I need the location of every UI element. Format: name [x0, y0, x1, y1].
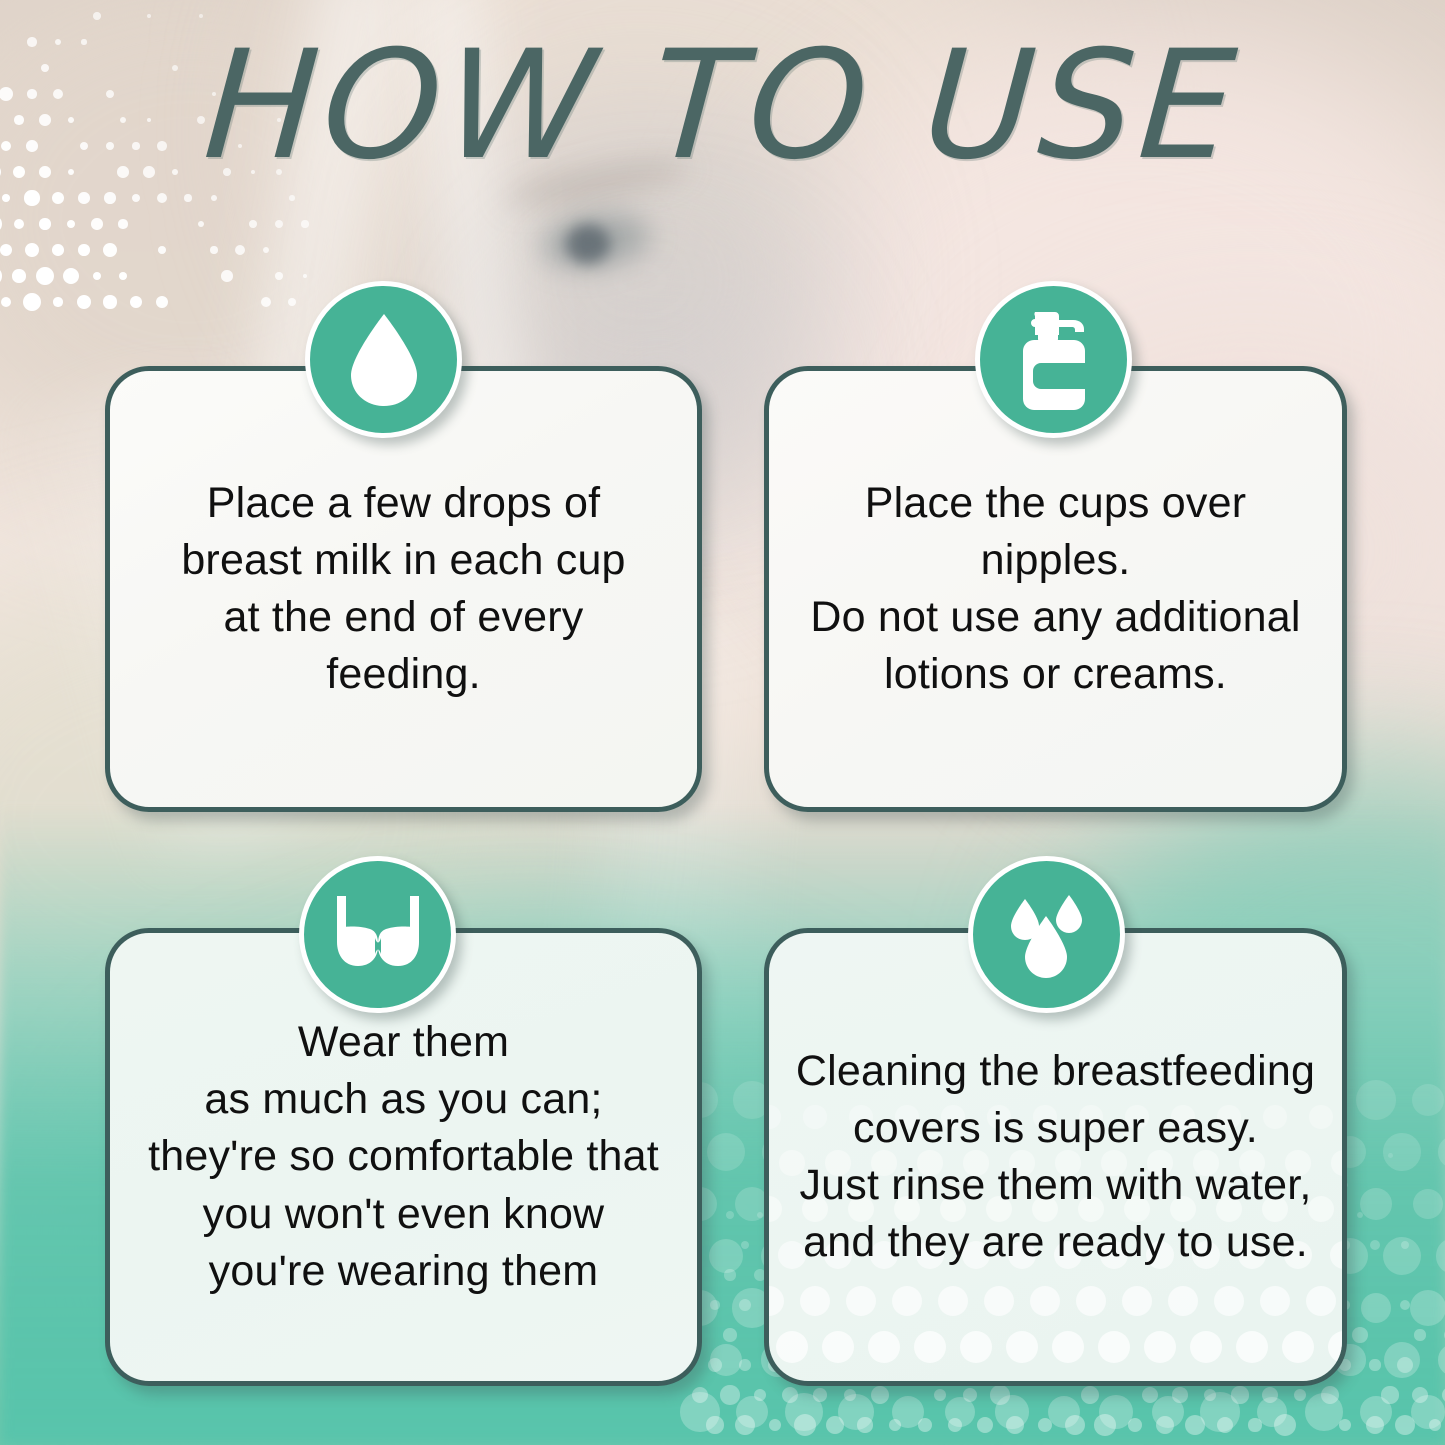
water-drop-icon	[345, 312, 423, 408]
step-1-icon-badge	[305, 281, 462, 438]
step-card-1-text: Place a few drops of breast milk in each…	[110, 475, 697, 704]
step-card-2-text: Place the cups over nipples. Do not use …	[769, 475, 1342, 704]
lotion-bottle-icon	[1011, 307, 1097, 413]
baby-eye-pupil-detail	[566, 224, 610, 264]
step-2-icon-badge	[975, 281, 1132, 438]
step-3-icon-badge	[299, 856, 456, 1013]
step-4-icon-badge	[968, 856, 1125, 1013]
bra-icon	[328, 896, 428, 974]
page-title: HOW TO USE	[0, 28, 1445, 186]
step-card-4-text: Cleaning the breastfeeding covers is sup…	[769, 1043, 1342, 1272]
step-card-3-text: Wear them as much as you can; they're so…	[110, 1014, 697, 1300]
how-to-use-infographic: HOW TO USE Place a few drops of breast m…	[0, 0, 1445, 1445]
water-droplets-icon	[1001, 889, 1093, 981]
